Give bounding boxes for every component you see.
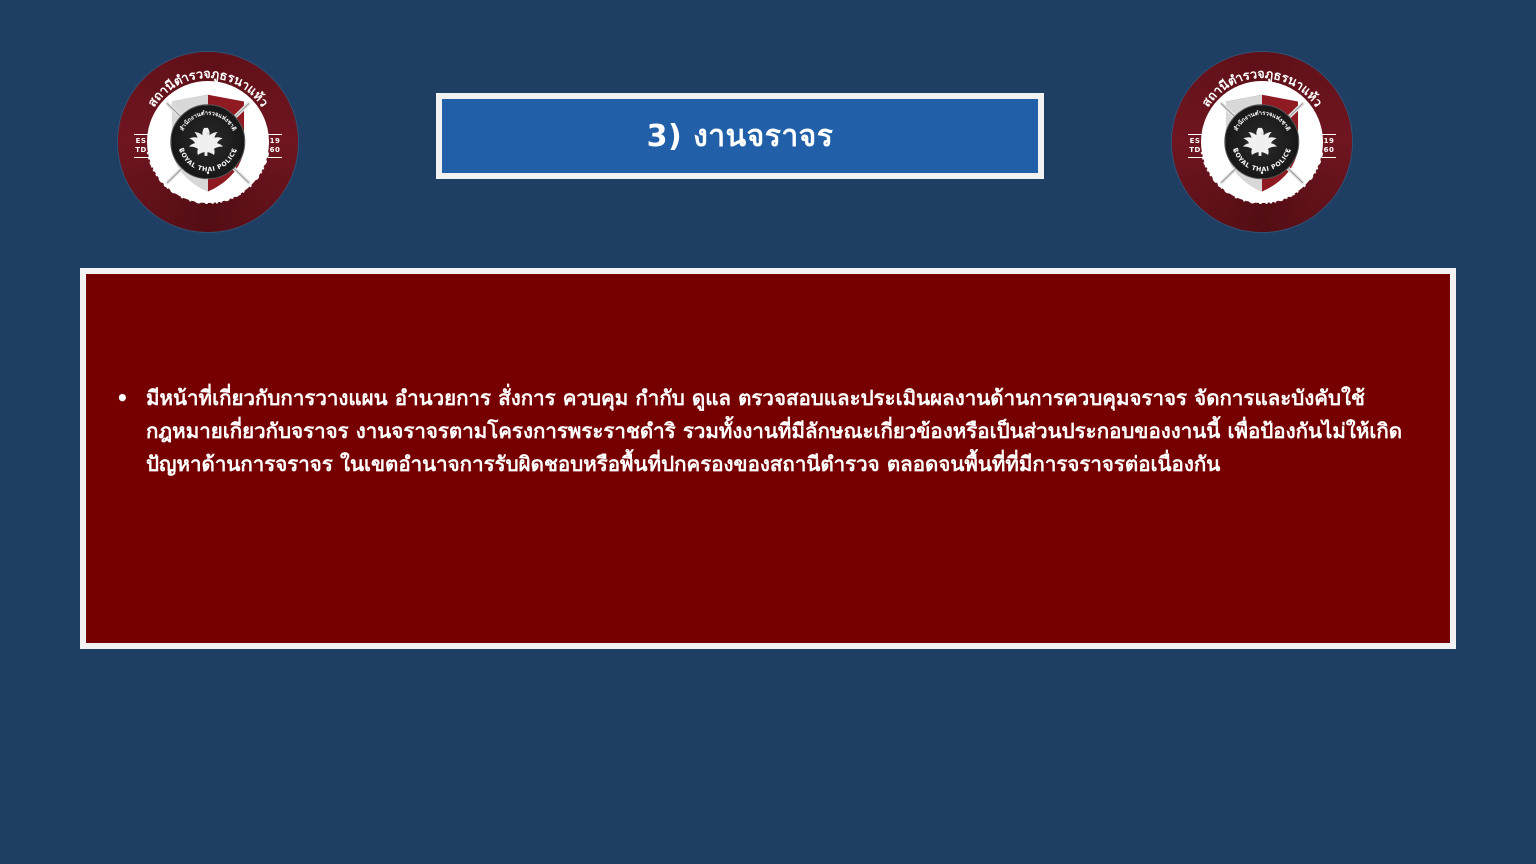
royal-thai-police-seal: ROYAL THAI POLICE สำนักงานตำรวจแห่งชาติ [170,104,245,179]
estd-rule-top [1188,134,1202,135]
seal-thai-label: สำนักงานตำรวจแห่งชาติ [178,109,239,133]
police-emblem-left: สถานีตำรวจภูธรนาแห้ว NaHeao Provincial P… [118,52,298,232]
page-title: 3) งานจราจร [647,113,834,160]
content-panel: • มีหน้าที่เกี่ยวกับการวางแผน อำนวยการ ส… [80,268,1456,649]
slide-title-banner-inner: 3) งานจราจร [439,96,1041,176]
seal-thai-label: สำนักงานตำรวจแห่งชาติ [1232,109,1293,133]
police-emblem-right: สถานีตำรวจภูธรนาแห้ว NaHeao Provincial P… [1172,52,1352,232]
year-rule-top [1322,134,1336,135]
year-rule-top [268,134,282,135]
seal-ring-text: ROYAL THAI POLICE สำนักงานตำรวจแห่งชาติ [171,105,244,178]
svg-text:ROYAL THAI POLICE: ROYAL THAI POLICE [1231,147,1292,173]
estd-line-2: TD [1188,146,1202,155]
year-line-1: 19 [1322,137,1336,146]
content-panel-inner: • มีหน้าที่เกี่ยวกับการวางแผน อำนวยการ ส… [83,271,1453,646]
emblem-inner-disc: ROYAL THAI POLICE สำนักงานตำรวจแห่งชาติ [147,81,269,203]
slide-canvas: สถานีตำรวจภูธรนาแห้ว NaHeao Provincial P… [0,0,1536,864]
seal-ring-text: ROYAL THAI POLICE สำนักงานตำรวจแห่งชาติ [1225,105,1298,178]
emblem-year-label-right: 19 60 [1322,132,1336,160]
year-rule-bottom [1322,157,1336,158]
slide-title-banner: 3) งานจราจร [436,93,1044,179]
year-line-1: 19 [268,137,282,146]
bullet-glyph: • [116,382,129,415]
estd-line-2: TD [134,146,148,155]
seal-english-label: ROYAL THAI POLICE [177,147,238,173]
svg-text:ROYAL THAI POLICE: ROYAL THAI POLICE [177,147,238,173]
emblem-estd-label-left: ES TD [134,132,148,160]
bullet-list: • มีหน้าที่เกี่ยวกับการวางแผน อำนวยการ ส… [108,382,1436,481]
estd-rule-bottom [1188,157,1202,158]
year-rule-bottom [268,157,282,158]
seal-english-label: ROYAL THAI POLICE [1231,147,1292,173]
estd-rule-top [134,134,148,135]
bullet-paragraph-text: มีหน้าที่เกี่ยวกับการวางแผน อำนวยการ สั่… [146,382,1436,481]
estd-line-1: ES [1188,137,1202,146]
emblem-inner-disc: ROYAL THAI POLICE สำนักงานตำรวจแห่งชาติ [1201,81,1323,203]
list-item: • มีหน้าที่เกี่ยวกับการวางแผน อำนวยการ ส… [108,382,1436,481]
royal-thai-police-seal: ROYAL THAI POLICE สำนักงานตำรวจแห่งชาติ [1224,104,1299,179]
estd-line-1: ES [134,137,148,146]
emblem-estd-label-right: ES TD [1188,132,1202,160]
year-line-2: 60 [268,146,282,155]
year-line-2: 60 [1322,146,1336,155]
svg-text:สำนักงานตำรวจแห่งชาติ: สำนักงานตำรวจแห่งชาติ [178,109,239,133]
estd-rule-bottom [134,157,148,158]
emblem-year-label-left: 19 60 [268,132,282,160]
svg-text:สำนักงานตำรวจแห่งชาติ: สำนักงานตำรวจแห่งชาติ [1232,109,1293,133]
